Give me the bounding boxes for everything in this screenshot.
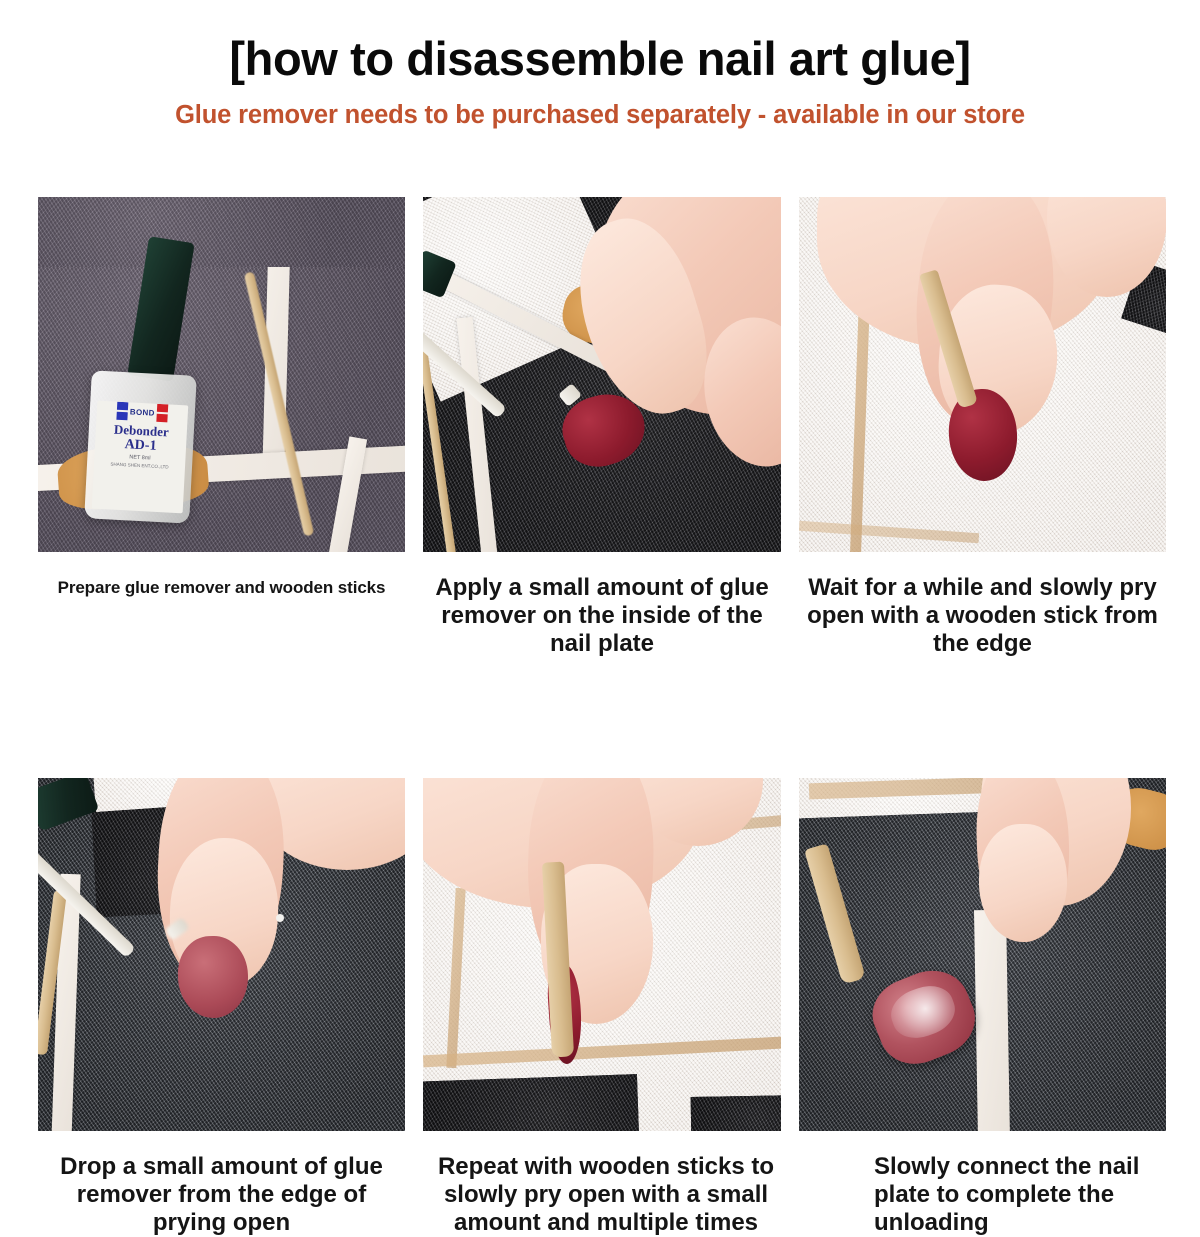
page-title: [how to disassemble nail art glue] (0, 0, 1200, 85)
logo-square-red-bottom (156, 414, 167, 423)
step-card-6: Slowly connect the nail plate to complet… (799, 778, 1166, 1237)
step-card-1: BOND Debonder AD-1 NET 8ml SHANG SHEN EN… (38, 197, 405, 658)
bottle-label: BOND Debonder AD-1 NET 8ml SHANG SHEN EN… (92, 401, 189, 514)
steps-grid: BOND Debonder AD-1 NET 8ml SHANG SHEN EN… (38, 197, 1166, 1237)
step-caption-1: Prepare glue remover and wooden sticks (38, 578, 405, 598)
step-caption-6: Slowly connect the nail plate to complet… (799, 1153, 1166, 1237)
step-card-5: Repeat with wooden sticks to slowly pry … (423, 778, 781, 1237)
step-photo-5 (423, 778, 781, 1131)
step-caption-5: Repeat with wooden sticks to slowly pry … (423, 1153, 781, 1237)
step-photo-4 (38, 778, 405, 1131)
step-photo-3 (799, 197, 1166, 552)
brand-text: BOND (130, 407, 155, 417)
leather-patch-bottom-left (423, 1074, 639, 1131)
label-code: AD-1 (95, 437, 187, 456)
logo-square-red-top (157, 404, 168, 413)
step-caption-3: Wait for a while and slowly pry open wit… (799, 574, 1166, 658)
logo-block-blue (117, 402, 129, 421)
step-photo-2 (423, 197, 781, 552)
step-card-4: Drop a small amount of glue remover from… (38, 778, 405, 1237)
step-caption-4: Drop a small amount of glue remover from… (38, 1153, 405, 1237)
leather-lower-band (38, 197, 405, 267)
leather-patch-bottom-right (691, 1095, 781, 1131)
logo-square-blue-bottom (117, 412, 128, 421)
logo-block-red (156, 404, 168, 423)
step-photo-6 (799, 778, 1166, 1131)
step-card-2: Apply a small amount of glue remover on … (423, 197, 781, 658)
step-photo-1: BOND Debonder AD-1 NET 8ml SHANG SHEN EN… (38, 197, 405, 552)
step-caption-2: Apply a small amount of glue remover on … (423, 574, 781, 658)
header: [how to disassemble nail art glue] Glue … (0, 0, 1200, 129)
infographic-page: [how to disassemble nail art glue] Glue … (0, 0, 1200, 1200)
step-card-3: Wait for a while and slowly pry open wit… (799, 197, 1166, 658)
brand-logo: BOND (96, 401, 188, 424)
page-subtitle: Glue remover needs to be purchased separ… (0, 85, 1200, 129)
logo-square-blue-top (117, 402, 128, 411)
fingertip (979, 824, 1067, 942)
bottle-body: BOND Debonder AD-1 NET 8ml SHANG SHEN EN… (84, 370, 197, 523)
cloth-strip-vertical (974, 910, 1010, 1131)
